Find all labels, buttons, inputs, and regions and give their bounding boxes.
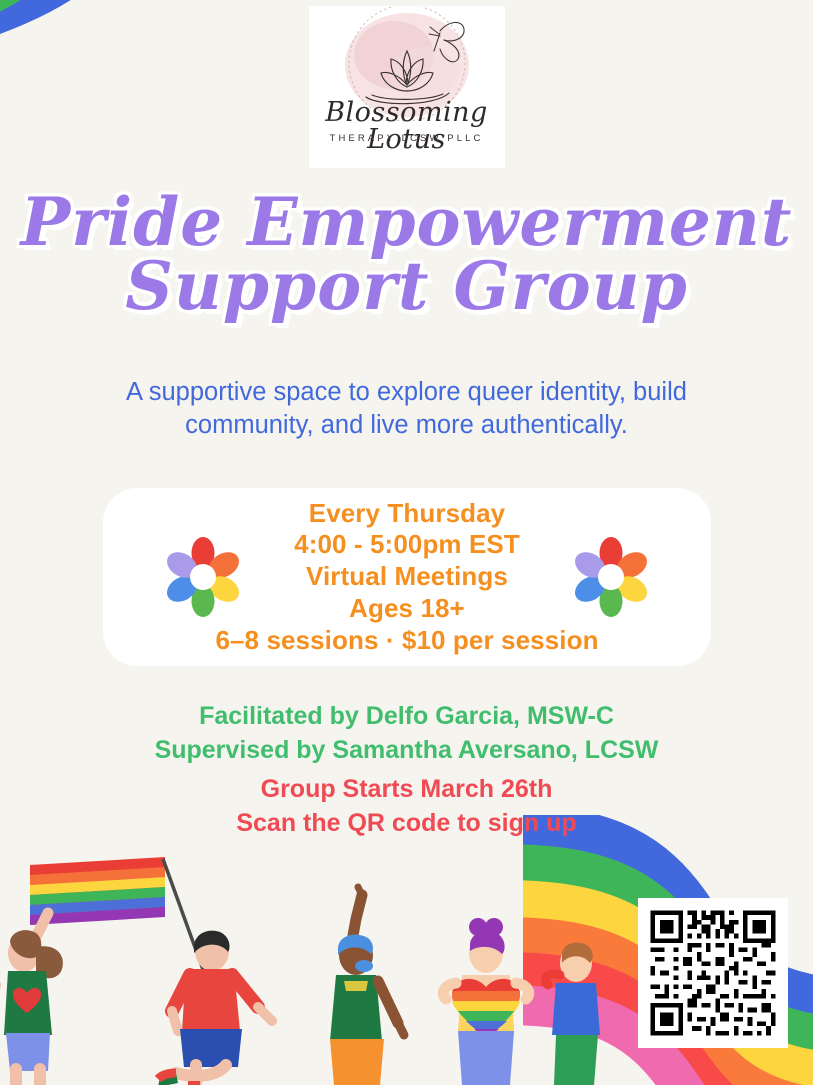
call-to-action-block: Group Starts March 26th Scan the QR code… [60, 773, 753, 840]
marcher-1 [0, 913, 63, 1085]
marcher-4 [443, 918, 529, 1085]
details-text: Every Thursday 4:00 - 5:00pm EST Virtual… [215, 498, 598, 657]
marcher-5 [546, 943, 600, 1085]
subtitle: A supportive space to explore queer iden… [78, 376, 735, 442]
page-title: Pride Empowerment Support Group [0, 190, 813, 318]
marcher-3 [330, 887, 404, 1085]
logo-script-text: Blossoming Lotus [312, 99, 502, 153]
pride-parade-marchers-illustration [0, 835, 600, 1085]
logo-subtext: THERAPY LCSW PLLC [312, 133, 502, 144]
subtitle-line-2: community, and live more authentically. [78, 409, 735, 442]
details-line-4: 6–8 sessions · $10 per session [215, 625, 598, 657]
poster-canvas: Blossoming Lotus THERAPY LCSW PLLC Pride… [0, 0, 813, 1085]
facilitator-block: Facilitated by Delfo Garcia, MSW-C Super… [60, 700, 753, 767]
rainbow-flower-icon [161, 535, 245, 619]
signup-qr-code[interactable] [638, 898, 788, 1048]
headline-line-2: Support Group [0, 254, 813, 318]
rainbow-flower-icon [569, 535, 653, 619]
brand-logo: Blossoming Lotus THERAPY LCSW PLLC [309, 6, 505, 168]
subtitle-line-1: A supportive space to explore queer iden… [126, 378, 687, 406]
facilitator-line-1: Facilitated by Delfo Garcia, MSW-C [199, 702, 614, 730]
details-card: Every Thursday 4:00 - 5:00pm EST Virtual… [103, 488, 711, 666]
cta-line-1: Group Starts March 26th [261, 775, 553, 803]
details-line-2: Virtual Meetings [215, 561, 598, 593]
facilitator-line-2: Supervised by Samantha Aversano, LCSW [60, 734, 753, 768]
details-line-0: Every Thursday [215, 498, 598, 530]
marcher-2 [158, 931, 272, 1085]
details-line-3: Ages 18+ [215, 593, 598, 625]
details-line-1: 4:00 - 5:00pm EST [215, 529, 598, 561]
qr-code-icon [646, 906, 780, 1040]
